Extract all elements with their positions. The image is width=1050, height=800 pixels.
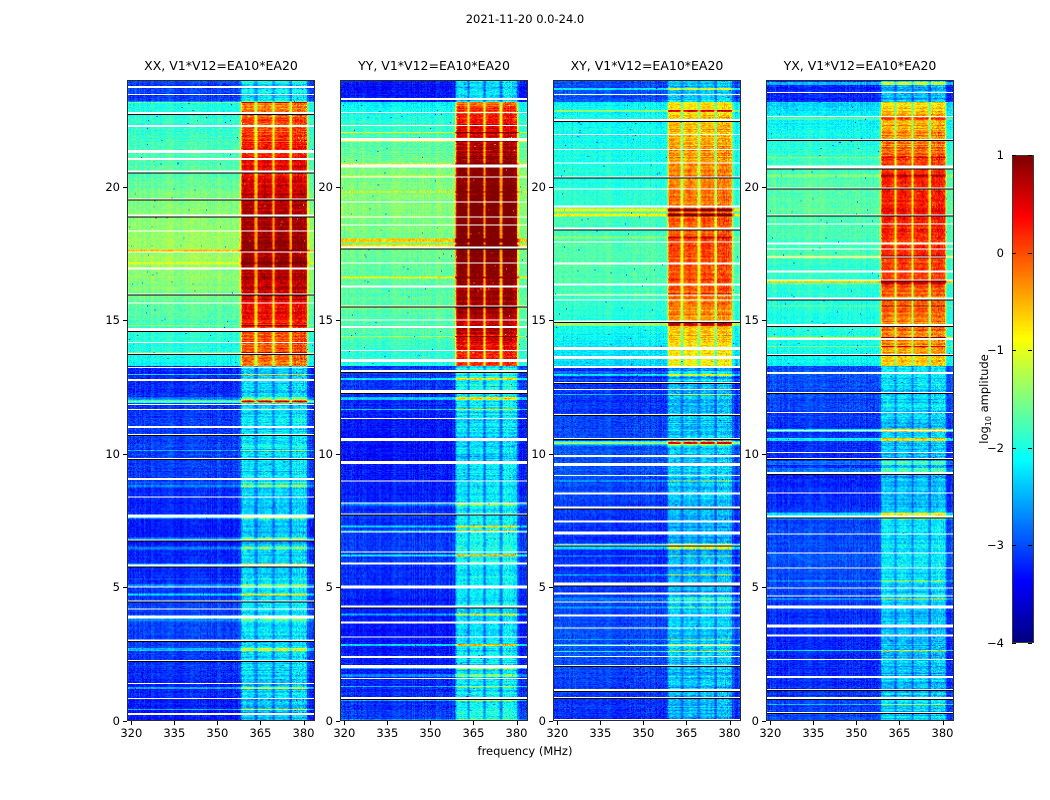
y-tick-mark xyxy=(762,320,766,321)
y-tick-label: 10 xyxy=(80,447,120,461)
colorbar-tick-mark xyxy=(1012,155,1016,156)
x-tick-mark xyxy=(260,721,261,725)
heatmap-panel-xy[interactable] xyxy=(553,80,741,721)
x-tick-label: 335 xyxy=(793,726,833,740)
colorbar-tick-mark xyxy=(1012,545,1016,546)
colorbar-label: log10 amplitude xyxy=(977,279,993,519)
y-tick-mark xyxy=(336,454,340,455)
x-tick-label: 350 xyxy=(623,726,663,740)
y-tick-mark xyxy=(549,187,553,188)
x-tick-label: 320 xyxy=(324,726,364,740)
y-tick-mark xyxy=(123,320,127,321)
y-tick-label: 15 xyxy=(719,313,759,327)
x-axis-label: frequency (MHz) xyxy=(0,744,1050,758)
y-tick-label: 0 xyxy=(293,714,333,728)
colorbar-tick-label: −2 xyxy=(964,441,1004,455)
y-tick-label: 20 xyxy=(719,180,759,194)
heatmap-image-xy xyxy=(554,81,740,720)
x-tick-label: 365 xyxy=(666,726,706,740)
x-tick-mark xyxy=(600,721,601,725)
y-tick-mark xyxy=(336,320,340,321)
y-tick-label: 20 xyxy=(293,180,333,194)
x-tick-label: 335 xyxy=(367,726,407,740)
x-tick-mark xyxy=(686,721,687,725)
colorbar-tick-mark xyxy=(1012,448,1016,449)
x-tick-mark xyxy=(387,721,388,725)
x-tick-label: 365 xyxy=(879,726,919,740)
y-tick-mark xyxy=(123,454,127,455)
x-tick-mark xyxy=(557,721,558,725)
x-tick-mark xyxy=(174,721,175,725)
y-tick-mark xyxy=(762,721,766,722)
y-tick-label: 5 xyxy=(719,580,759,594)
y-tick-mark xyxy=(549,721,553,722)
figure-suptitle: 2021-11-20 0.0-24.0 xyxy=(0,12,1050,26)
y-tick-label: 0 xyxy=(506,714,546,728)
colorbar-tick-label: 0 xyxy=(964,246,1004,260)
y-tick-mark xyxy=(762,454,766,455)
x-tick-label: 335 xyxy=(154,726,194,740)
x-tick-label: 350 xyxy=(836,726,876,740)
y-tick-mark xyxy=(123,187,127,188)
x-tick-mark xyxy=(643,721,644,725)
colorbar-tick-mark xyxy=(1028,350,1032,351)
x-tick-mark xyxy=(813,721,814,725)
x-tick-label: 320 xyxy=(537,726,577,740)
y-tick-label: 10 xyxy=(719,447,759,461)
y-tick-mark xyxy=(123,587,127,588)
y-tick-mark xyxy=(336,187,340,188)
x-tick-mark xyxy=(344,721,345,725)
y-tick-mark xyxy=(549,320,553,321)
colorbar-tick-mark xyxy=(1012,350,1016,351)
x-tick-mark xyxy=(217,721,218,725)
heatmap-panel-yx[interactable] xyxy=(766,80,954,721)
x-tick-label: 320 xyxy=(111,726,151,740)
y-tick-label: 20 xyxy=(506,180,546,194)
y-tick-label: 5 xyxy=(506,580,546,594)
y-tick-mark xyxy=(549,454,553,455)
y-tick-mark xyxy=(549,587,553,588)
heatmap-image-xx xyxy=(128,81,314,720)
heatmap-image-yy xyxy=(341,81,527,720)
x-tick-mark xyxy=(770,721,771,725)
heatmap-panel-yy[interactable] xyxy=(340,80,528,721)
x-tick-mark xyxy=(473,721,474,725)
heatmap-image-yx xyxy=(767,81,953,720)
x-tick-mark xyxy=(943,721,944,725)
panel-title-yy: YY, V1*V12=EA10*EA20 xyxy=(314,58,554,73)
colorbar-tick-label: −1 xyxy=(964,343,1004,357)
panel-title-xy: XY, V1*V12=EA10*EA20 xyxy=(527,58,767,73)
x-tick-mark xyxy=(131,721,132,725)
y-tick-mark xyxy=(123,721,127,722)
x-tick-mark xyxy=(856,721,857,725)
y-tick-label: 10 xyxy=(293,447,333,461)
x-tick-label: 350 xyxy=(197,726,237,740)
y-tick-mark xyxy=(762,587,766,588)
colorbar-tick-mark xyxy=(1028,643,1032,644)
y-tick-mark xyxy=(762,187,766,188)
y-tick-label: 10 xyxy=(506,447,546,461)
panel-title-yx: YX, V1*V12=EA10*EA20 xyxy=(740,58,980,73)
x-tick-label: 380 xyxy=(710,726,750,740)
colorbar-tick-mark xyxy=(1028,253,1032,254)
y-tick-label: 5 xyxy=(293,580,333,594)
x-tick-label: 380 xyxy=(284,726,324,740)
heatmap-panel-xx[interactable] xyxy=(127,80,315,721)
x-tick-label: 380 xyxy=(497,726,537,740)
y-tick-mark xyxy=(336,721,340,722)
x-tick-label: 320 xyxy=(750,726,790,740)
colorbar-tick-mark xyxy=(1012,253,1016,254)
y-tick-label: 0 xyxy=(80,714,120,728)
x-tick-label: 350 xyxy=(410,726,450,740)
panel-title-xx: XX, V1*V12=EA10*EA20 xyxy=(101,58,341,73)
x-tick-label: 365 xyxy=(240,726,280,740)
x-tick-label: 380 xyxy=(923,726,963,740)
y-tick-label: 15 xyxy=(506,313,546,327)
x-tick-label: 365 xyxy=(453,726,493,740)
x-tick-mark xyxy=(430,721,431,725)
x-tick-mark xyxy=(899,721,900,725)
y-tick-label: 0 xyxy=(719,714,759,728)
x-tick-label: 335 xyxy=(580,726,620,740)
colorbar-tick-mark xyxy=(1028,448,1032,449)
colorbar-tick-mark xyxy=(1012,643,1016,644)
colorbar-tick-mark xyxy=(1028,155,1032,156)
colorbar-tick-mark xyxy=(1028,545,1032,546)
colorbar-tick-label: −3 xyxy=(964,538,1004,552)
colorbar-label-text: log10 amplitude xyxy=(977,354,991,444)
colorbar-tick-label: −4 xyxy=(964,636,1004,650)
y-tick-mark xyxy=(336,587,340,588)
y-tick-label: 15 xyxy=(80,313,120,327)
colorbar-tick-label: 1 xyxy=(964,148,1004,162)
colorbar xyxy=(1012,155,1034,643)
y-tick-label: 5 xyxy=(80,580,120,594)
figure-canvas: 2021-11-20 0.0-24.0 XX, V1*V12=EA10*EA20… xyxy=(0,0,1050,800)
y-tick-label: 15 xyxy=(293,313,333,327)
y-tick-label: 20 xyxy=(80,180,120,194)
